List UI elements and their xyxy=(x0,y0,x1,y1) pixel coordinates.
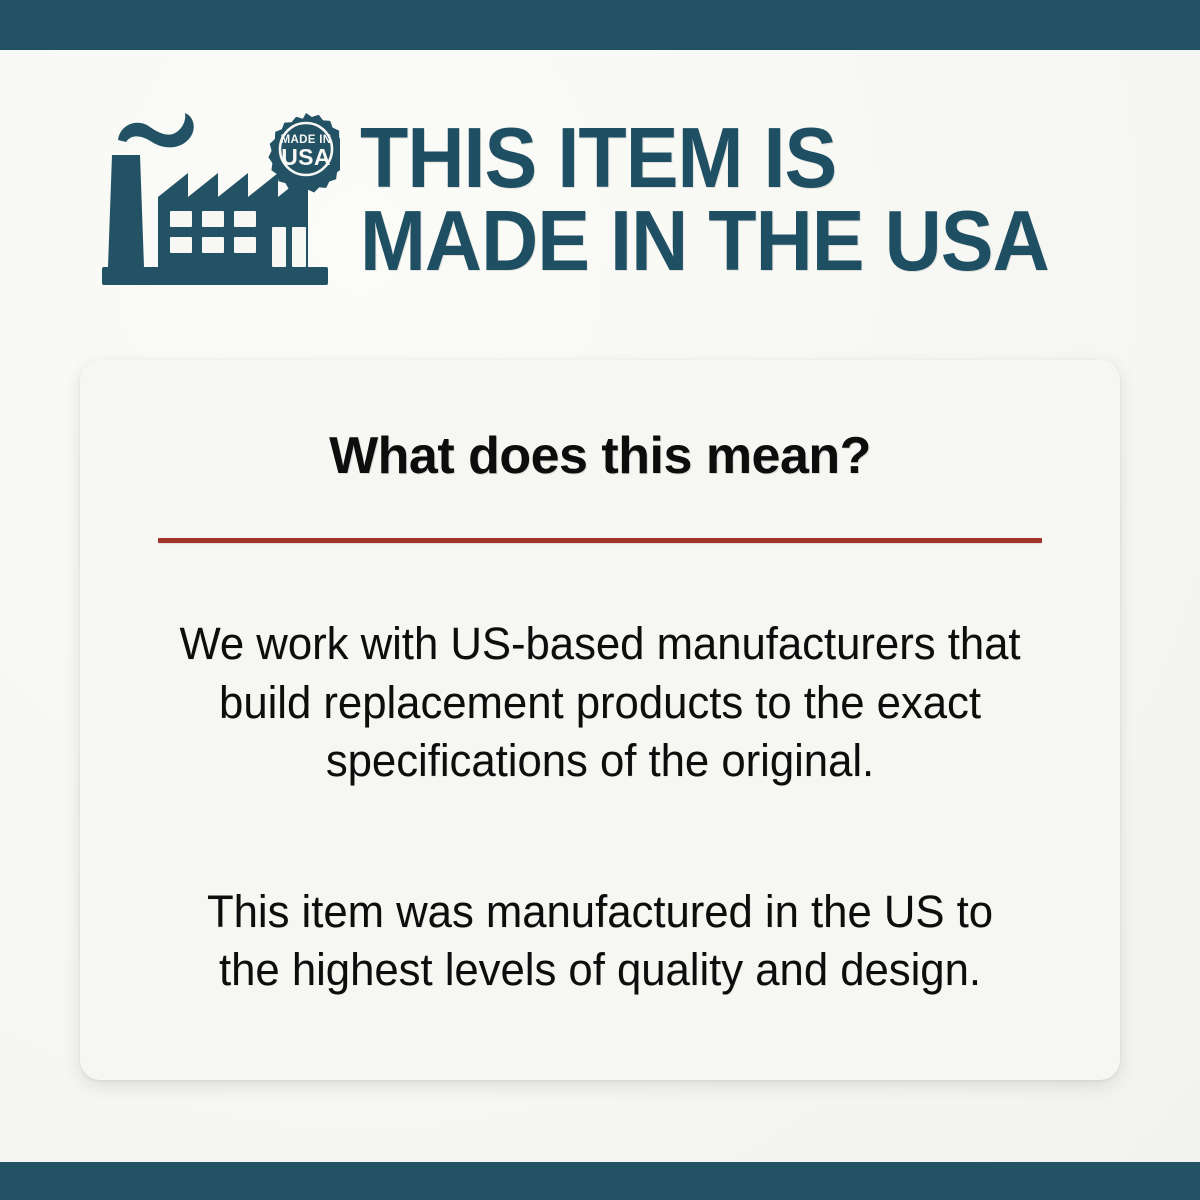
card-heading: What does this mean? xyxy=(158,360,1042,486)
title-line-2: MADE IN THE USA xyxy=(360,200,1141,283)
red-divider xyxy=(158,538,1042,543)
header: MADE IN USA THIS ITEM IS MADE IN THE USA xyxy=(0,50,1200,350)
badge-line-2: USA xyxy=(281,144,330,170)
bottom-accent-bar xyxy=(0,1162,1200,1200)
top-accent-bar xyxy=(0,0,1200,50)
explanation-card: What does this mean? We work with US-bas… xyxy=(80,360,1120,1080)
factory-icon: MADE IN USA xyxy=(100,105,340,295)
page-title: THIS ITEM IS MADE IN THE USA xyxy=(360,117,1200,284)
card-paragraph-1: We work with US-based manufacturers that… xyxy=(171,615,1028,791)
made-in-usa-banner: MADE IN USA THIS ITEM IS MADE IN THE USA… xyxy=(0,0,1200,1200)
title-line-1: THIS ITEM IS xyxy=(360,117,1141,200)
card-paragraph-2: This item was manufactured in the US to … xyxy=(171,883,1028,1000)
